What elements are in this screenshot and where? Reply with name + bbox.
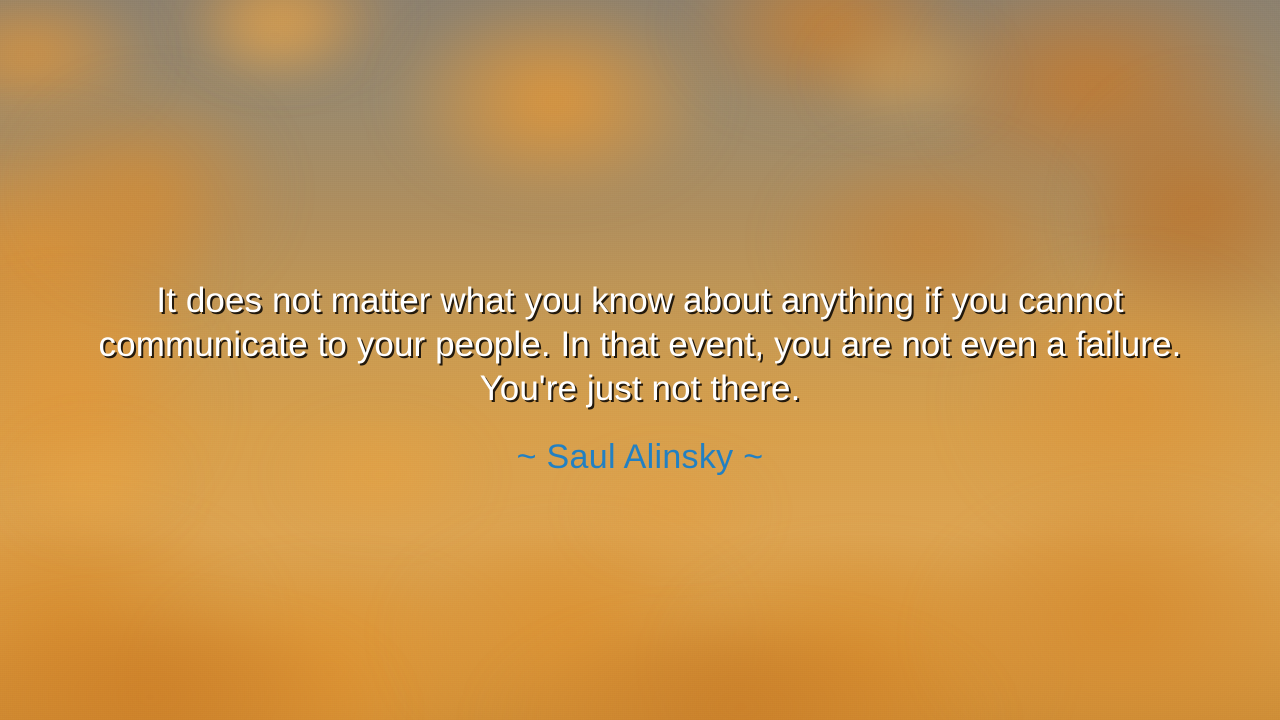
quote-attribution: ~ Saul Alinsky ~ — [0, 437, 1280, 477]
quote-wallpaper: It does not matter what you know about a… — [0, 0, 1280, 720]
quote-block: It does not matter what you know about a… — [75, 279, 1205, 411]
text-overlay: It does not matter what you know about a… — [0, 0, 1280, 720]
quote-text: It does not matter what you know about a… — [75, 279, 1205, 411]
